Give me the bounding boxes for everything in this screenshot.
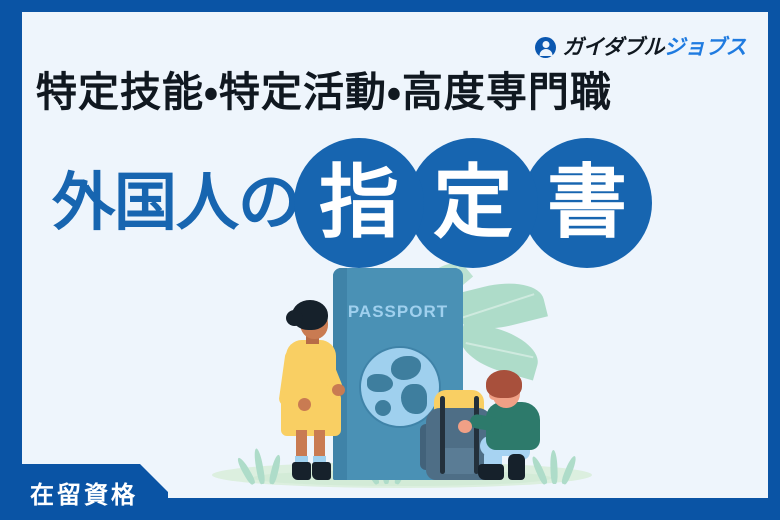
circled-char-3: 書 <box>522 138 652 268</box>
circled-char-2: 定 <box>408 138 538 268</box>
circled-char-1: 指 <box>294 138 424 268</box>
brand-logo[interactable]: ガイダブルジョブス <box>535 34 746 60</box>
woman-boot-left <box>292 462 311 480</box>
circled-characters: 指 定 書 <box>294 138 652 268</box>
crouching-man <box>474 370 566 482</box>
man-hand <box>458 420 472 433</box>
title-plain-text: 外国人の <box>52 172 300 235</box>
woman-hand-left <box>298 398 311 411</box>
backpack-front-pocket <box>440 448 478 474</box>
brand-name-dark: ガイダブル <box>562 36 664 59</box>
brand-name: ガイダブルジョブス <box>562 37 746 58</box>
status-badge: 在留資格 <box>0 464 168 520</box>
subtitle: 特定技能・特定活動・高度専門職 <box>36 70 612 115</box>
person-circle-icon <box>535 37 556 58</box>
standing-woman <box>270 298 348 482</box>
illustration: PASSPORT <box>22 238 768 498</box>
brand-name-blue: ジョブス <box>664 36 746 59</box>
man-hair <box>486 370 522 398</box>
woman-hair-bun <box>286 310 303 326</box>
woman-dress-skirt <box>281 394 341 436</box>
passport-label: PASSPORT <box>333 302 463 322</box>
man-boot-back <box>508 454 525 480</box>
woman-boot-right <box>312 462 331 480</box>
backpack-strap-left <box>440 396 445 474</box>
banner: ガイダブルジョブス 特定技能・特定活動・高度専門職 外国人の 指 定 書 <box>0 0 780 520</box>
man-boot-front <box>478 464 504 480</box>
content-panel: ガイダブルジョブス 特定技能・特定活動・高度専門職 外国人の 指 定 書 <box>22 12 768 498</box>
woman-hand-right <box>332 384 345 396</box>
